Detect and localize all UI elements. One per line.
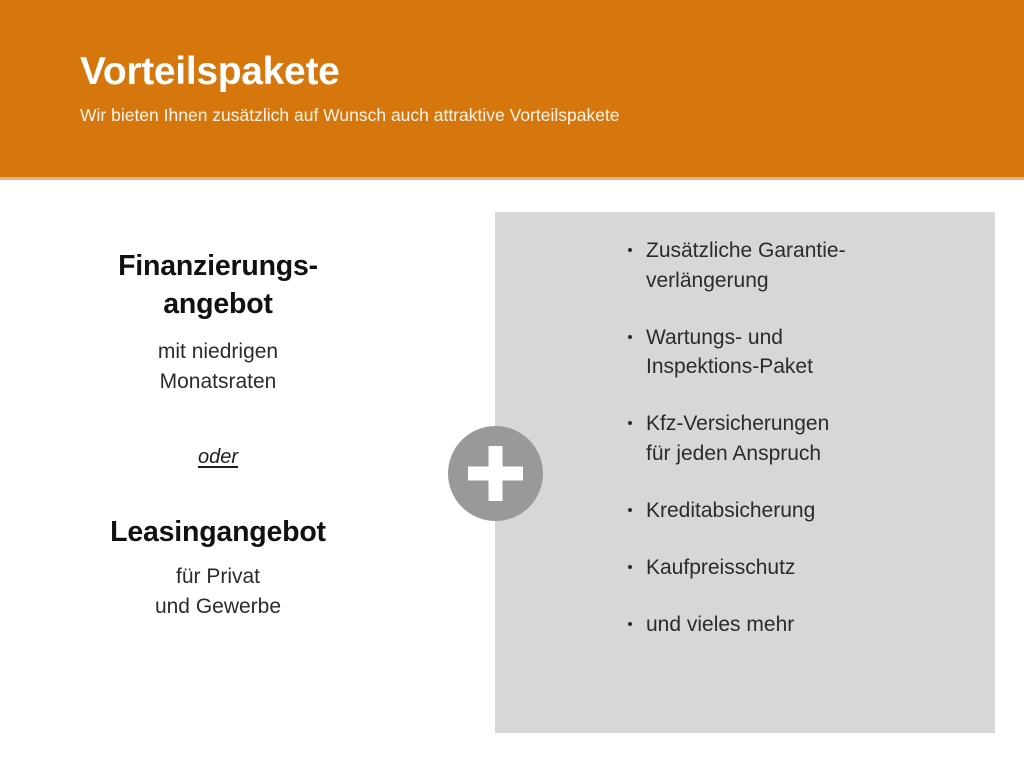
benefit-text-line-1: und vieles mehr — [646, 610, 968, 640]
benefit-text-line-2: verlängerung — [646, 266, 968, 296]
list-item: Zusätzliche Garantie- verlängerung — [628, 236, 968, 296]
page-title: Vorteilspakete — [80, 52, 340, 93]
benefit-text-line-1: Kfz-Versicherungen — [646, 409, 968, 439]
benefit-text-line-1: Kreditabsicherung — [646, 496, 968, 526]
list-item: und vieles mehr — [628, 610, 968, 640]
bullet-icon — [628, 335, 632, 339]
header-divider-rule — [0, 177, 1024, 180]
bullet-icon — [628, 421, 632, 425]
financing-sub-line-2: Monatsraten — [40, 367, 396, 397]
list-item: Kaufpreisschutz — [628, 553, 968, 583]
benefit-text-line-1: Wartungs- und — [646, 323, 968, 353]
benefits-list: Zusätzliche Garantie- verlängerung Wartu… — [628, 236, 968, 639]
benefit-text-line-1: Kaufpreisschutz — [646, 553, 968, 583]
leasing-heading-line-1: Leasingangebot — [40, 515, 396, 549]
benefit-text-line-1: Zusätzliche Garantie- — [646, 236, 968, 266]
financing-heading-line-2: angebot — [40, 286, 396, 324]
benefit-text-line-2: für jeden Anspruch — [646, 439, 968, 469]
bullet-icon — [628, 622, 632, 626]
plus-icon — [448, 426, 543, 521]
offers-column: Finanzierungs- angebot mit niedrigen Mon… — [40, 248, 396, 623]
page-subtitle: Wir bieten Ihnen zusätzlich auf Wunsch a… — [80, 105, 620, 126]
leasing-sub-line-1: für Privat — [40, 562, 396, 592]
list-item: Kfz-Versicherungen für jeden Anspruch — [628, 409, 968, 469]
leasing-sub-line-2: und Gewerbe — [40, 592, 396, 622]
financing-offer-block: Finanzierungs- angebot mit niedrigen Mon… — [40, 248, 396, 398]
bullet-icon — [628, 565, 632, 569]
leasing-offer-description: für Privat und Gewerbe — [40, 562, 396, 623]
financing-heading-line-1: Finanzierungs- — [40, 248, 396, 286]
financing-sub-line-1: mit niedrigen — [40, 337, 396, 367]
bullet-icon — [628, 248, 632, 252]
financing-offer-description: mit niedrigen Monatsraten — [40, 337, 396, 398]
financing-offer-heading: Finanzierungs- angebot — [40, 248, 396, 324]
list-item: Kreditabsicherung — [628, 496, 968, 526]
offer-divider-label: oder — [40, 446, 396, 469]
list-item: Wartungs- und Inspektions-Paket — [628, 323, 968, 383]
leasing-offer-block: Leasingangebot für Privat und Gewerbe — [40, 515, 396, 623]
leasing-offer-heading: Leasingangebot — [40, 515, 396, 549]
benefit-text-line-2: Inspektions-Paket — [646, 352, 968, 382]
bullet-icon — [628, 508, 632, 512]
